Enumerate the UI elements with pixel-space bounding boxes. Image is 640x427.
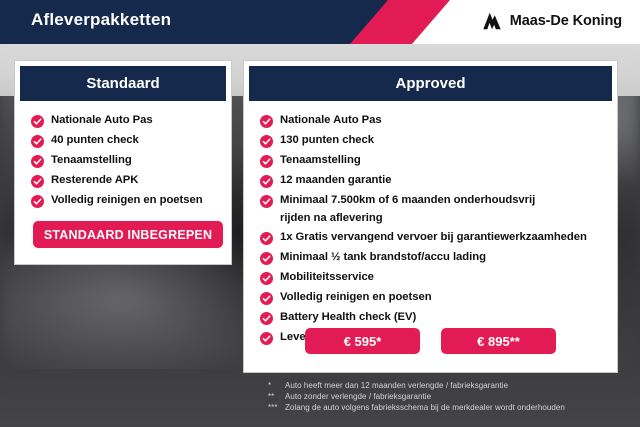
feature-list-approved: Nationale Auto Pas 130 punten check Tena… [244,101,617,345]
feature-label: Minimaal 7.500km of 6 maanden onderhouds… [280,193,535,225]
price-button-895[interactable]: € 895** [441,328,556,354]
check-circle-icon [260,252,273,265]
footnote-marker: * [268,380,285,391]
check-circle-icon [260,232,273,245]
feature-label: Volledig reinigen en poetsen [51,193,203,207]
card-header-approved: Approved [249,66,612,101]
feature-label: Resterende APK [51,173,138,187]
list-item: Volledig reinigen en poetsen [15,193,231,208]
list-item: Resterende APK [15,173,231,188]
check-circle-icon [31,135,44,148]
feature-label: Nationale Auto Pas [51,113,153,127]
list-item: Tenaamstelling [15,153,231,168]
feature-label: Volledig reinigen en poetsen [280,290,432,304]
page-title: Afleverpakketten [31,10,171,30]
feature-label: 130 punten check [280,133,374,147]
list-item: Mobiliteitsservice [244,270,617,285]
feature-label: Tenaamstelling [51,153,132,167]
feature-label: Nationale Auto Pas [280,113,382,127]
footnote-text: Auto zonder verlengde / fabrieksgarantie [285,391,431,402]
list-item: Battery Health check (EV) [244,310,617,325]
footnote-1: * Auto heeft meer dan 12 maanden verleng… [268,380,618,391]
check-circle-icon [31,175,44,188]
check-circle-icon [260,115,273,128]
list-item: Tenaamstelling [244,153,617,168]
check-circle-icon [31,155,44,168]
footnote-marker: *** [268,402,285,413]
feature-label-continuation: rijden na aflevering [280,211,535,225]
check-circle-icon [260,135,273,148]
footnote-3: *** Zolang de auto volgens fabrieksschem… [268,402,618,413]
feature-label: Minimaal ½ tank brandstof/accu lading [280,250,486,264]
price-button-595[interactable]: € 595* [305,328,420,354]
package-card-approved: Approved Nationale Auto Pas 130 punten c… [243,60,618,373]
footnote-text: Auto heeft meer dan 12 maanden verlengde… [285,380,508,391]
feature-label: 12 maanden garantie [280,173,391,187]
list-item: Volledig reinigen en poetsen [244,290,617,305]
check-circle-icon [260,272,273,285]
check-circle-icon [260,155,273,168]
list-item: 40 punten check [15,133,231,148]
check-circle-icon [260,292,273,305]
check-circle-icon [31,195,44,208]
check-circle-icon [260,175,273,188]
footnote-2: ** Auto zonder verlengde / fabrieksgaran… [268,391,618,402]
card-header-standaard: Standaard [20,66,226,101]
list-item: Nationale Auto Pas [15,113,231,128]
feature-label: Battery Health check (EV) [280,310,416,324]
list-item: Minimaal 7.500km of 6 maanden onderhouds… [244,193,617,225]
list-item: 130 punten check [244,133,617,148]
package-card-standaard: Standaard Nationale Auto Pas 40 punten c… [14,60,232,265]
card-title: Approved [395,75,465,92]
page-header: Afleverpakketten Maas-De Koning [0,0,640,44]
list-item: Minimaal ½ tank brandstof/accu lading [244,250,617,265]
footnote-marker: ** [268,391,285,402]
card-title: Standaard [86,75,159,92]
afleverpakketten-slide: Afleverpakketten Maas-De Koning Standaar… [0,0,640,427]
feature-label: 1x Gratis vervangend vervoer bij garanti… [280,230,587,244]
price-button-row: € 595* € 895** [244,328,617,354]
list-item: 12 maanden garantie [244,173,617,188]
list-item: Nationale Auto Pas [244,113,617,128]
feature-label: 40 punten check [51,133,139,147]
check-circle-icon [31,115,44,128]
maas-de-koning-logo-mark-icon [481,11,503,31]
footnote-text: Zolang de auto volgens fabrieksschema bi… [285,402,565,413]
brand-logo: Maas-De Koning [481,11,622,31]
list-item: 1x Gratis vervangend vervoer bij garanti… [244,230,617,245]
check-circle-icon [260,195,273,208]
feature-label: Mobiliteitsservice [280,270,374,284]
feature-list-standaard: Nationale Auto Pas 40 punten check Tenaa… [15,101,231,208]
footnotes: * Auto heeft meer dan 12 maanden verleng… [268,380,618,413]
standaard-inbegrepen-button[interactable]: STANDAARD INBEGREPEN [33,221,223,248]
brand-name: Maas-De Koning [510,13,622,29]
check-circle-icon [260,312,273,325]
feature-label: Tenaamstelling [280,153,361,167]
